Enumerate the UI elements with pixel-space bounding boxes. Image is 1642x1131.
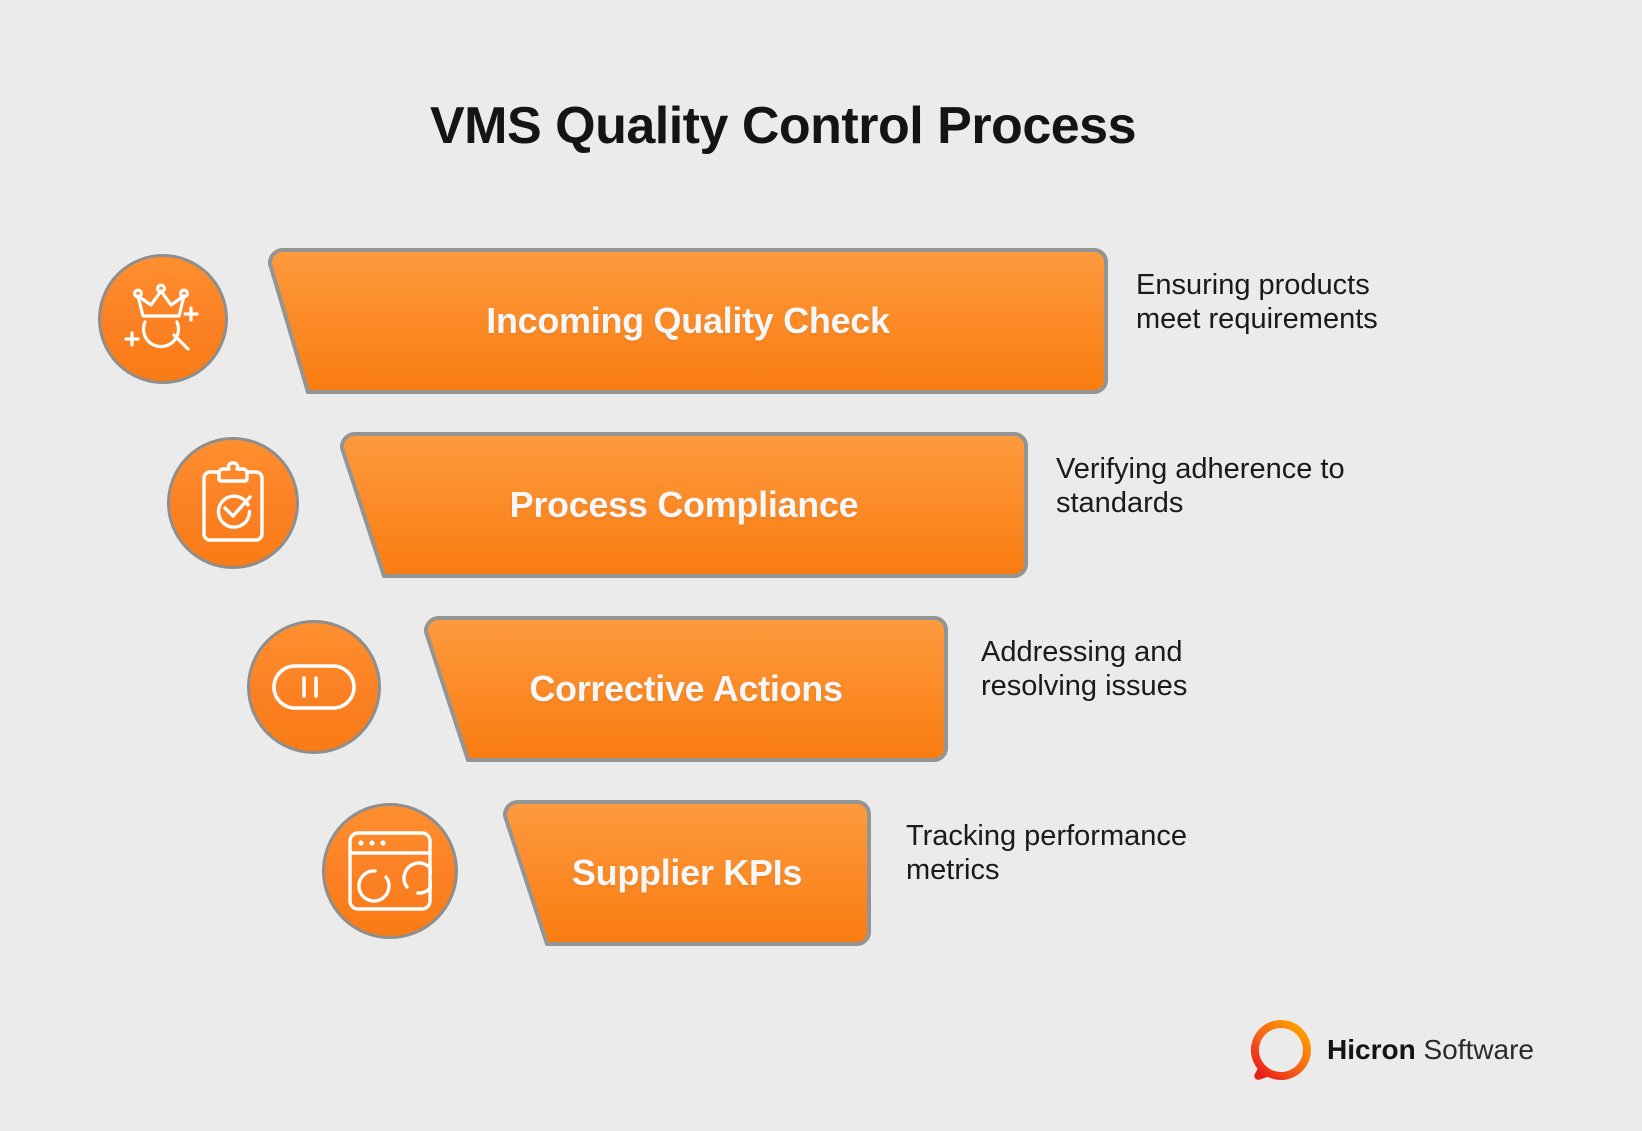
funnel-diagram: Incoming Quality Check Ensuring products… <box>0 0 1642 1131</box>
funnel-step-3-description: Addressing and resolving issues <box>981 635 1301 703</box>
brand-logo: Hicron Software <box>1251 1020 1534 1080</box>
brand-logo-text: Hicron Software <box>1327 1034 1534 1066</box>
brand-suffix: Software <box>1416 1034 1534 1065</box>
funnel-step-4-description: Tracking performance metrics <box>906 819 1236 887</box>
funnel-step-1-description: Ensuring products meet requirements <box>1136 268 1466 336</box>
pause-toggle-icon <box>247 620 381 754</box>
funnel-step-2-description: Verifying adherence to standards <box>1056 452 1396 520</box>
funnel-bar-1[interactable]: Incoming Quality Check <box>268 248 1108 394</box>
funnel-bar-3[interactable]: Corrective Actions <box>424 616 948 762</box>
funnel-bar-2[interactable]: Process Compliance <box>340 432 1028 578</box>
crown-magnifier-icon <box>98 254 228 384</box>
clipboard-check-icon <box>167 437 299 569</box>
hicron-ring-icon <box>1251 1020 1311 1080</box>
browser-gauges-icon <box>322 803 458 939</box>
funnel-bar-4[interactable]: Supplier KPIs <box>503 800 871 946</box>
brand-name: Hicron <box>1327 1034 1416 1065</box>
